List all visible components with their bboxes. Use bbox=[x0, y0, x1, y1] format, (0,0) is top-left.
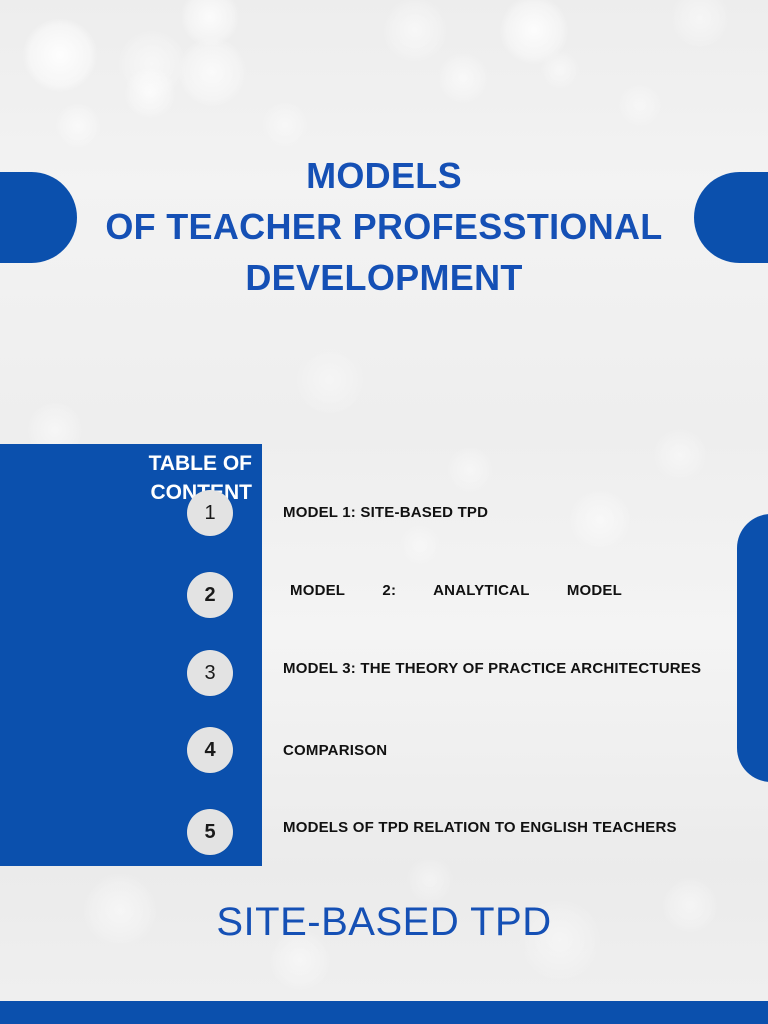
toc-item-label-1: MODEL 1: SITE-BASED TPD bbox=[283, 499, 723, 527]
page-title-line-3: DEVELOPMENT bbox=[60, 252, 708, 303]
toc-item-label-3: MODEL 3: THE THEORY OF PRACTICE ARCHITEC… bbox=[283, 655, 723, 683]
page-title: MODELS OF TEACHER PROFESSTIONAL DEVELOPM… bbox=[60, 150, 708, 303]
toc-bullet-number-1: 1 bbox=[187, 490, 233, 536]
bottom-accent-bar bbox=[0, 1001, 768, 1024]
toc-bullet-number-5: 5 bbox=[187, 809, 233, 855]
toc-heading-line-1: TABLE OF bbox=[0, 450, 252, 479]
page-title-line-2: OF TEACHER PROFESSTIONAL bbox=[60, 201, 708, 252]
toc-item-label-4: COMPARISON bbox=[283, 737, 723, 765]
toc-bullet-number-4: 4 bbox=[187, 727, 233, 773]
footer-section-heading: SITE-BASED TPD bbox=[0, 900, 768, 945]
toc-bullet-number-2: 2 bbox=[187, 572, 233, 618]
toc-item-label-5: MODELS OF TPD RELATION TO ENGLISH TEACHE… bbox=[283, 814, 723, 842]
page-title-line-1: MODELS bbox=[60, 150, 708, 201]
toc-list: 1 MODEL 1: SITE-BASED TPD 2 MODEL 2: ANA… bbox=[0, 444, 768, 874]
toc-item-label-2: MODEL 2: ANALYTICAL MODEL bbox=[290, 577, 622, 633]
slide: MODELS OF TEACHER PROFESSTIONAL DEVELOPM… bbox=[0, 0, 768, 1024]
toc-bullet-number-3: 3 bbox=[187, 650, 233, 696]
